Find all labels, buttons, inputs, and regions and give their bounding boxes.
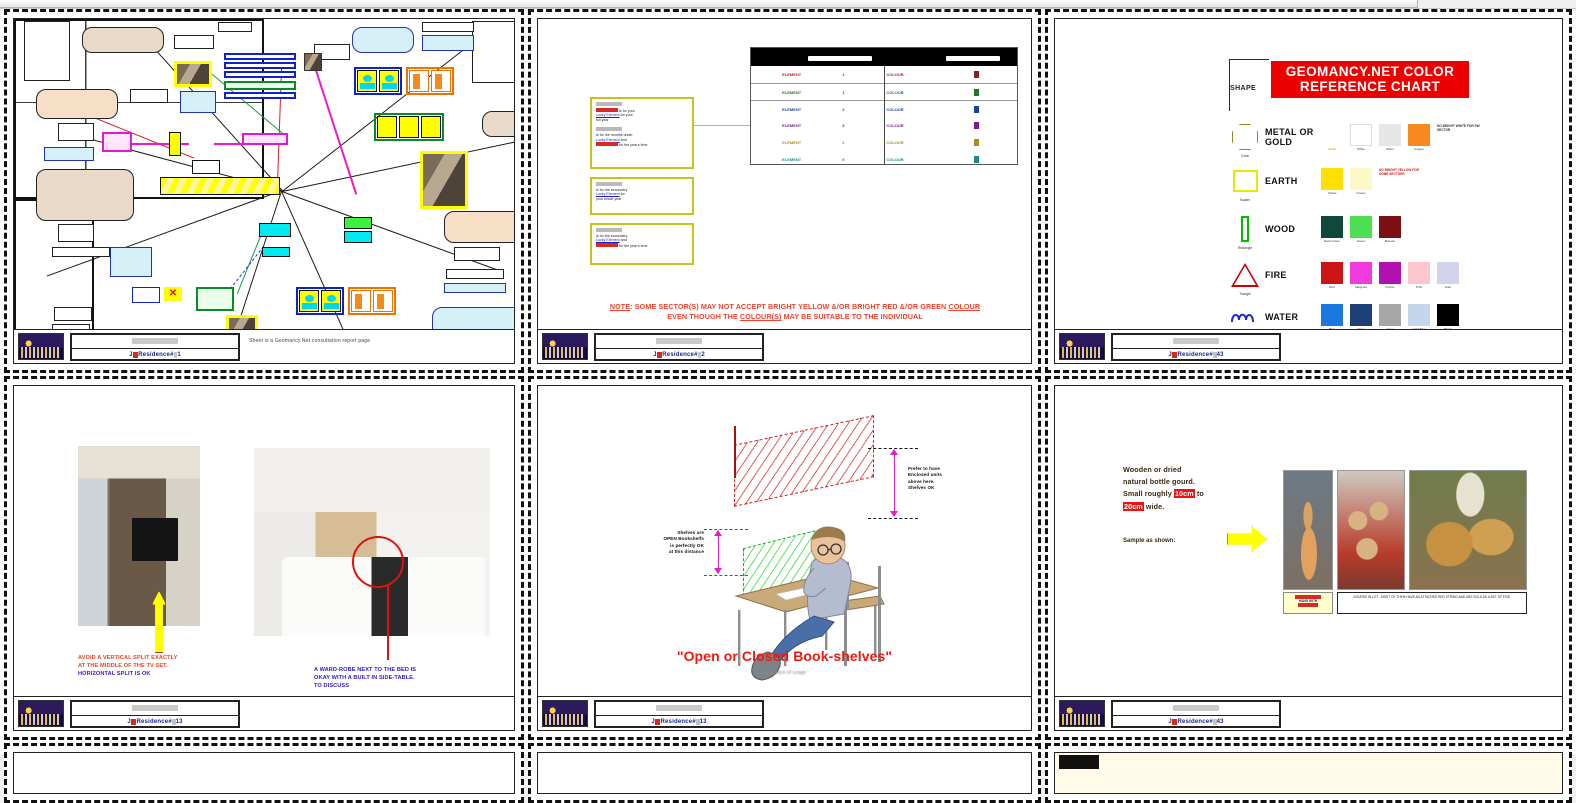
footer-page-label: J Residence# 2 <box>596 348 762 360</box>
tv-caption-line-2: AT THE MIDDLE OF THE TV SET. <box>78 662 258 670</box>
document-page-7-partial[interactable] <box>4 743 524 803</box>
swatch-blue: Blue <box>1321 304 1343 330</box>
document-page-8-partial[interactable] <box>528 743 1041 803</box>
page-5-canvas: Prefer to have Enclosed units above here… <box>538 386 1031 696</box>
footer-page-label: J Residence# 1 <box>72 348 238 360</box>
footer-title-box: CLIENT NAME J Residence# 2 <box>594 333 764 361</box>
magenta-measure-arrow-left <box>714 531 723 573</box>
wardrobe-caption-line-3: TO DISCUSS <box>314 682 504 690</box>
gourd-photo-3 <box>1409 470 1527 590</box>
footer-client-redacted: CLIENT NAME <box>1113 335 1279 347</box>
page-4-canvas: AVOID A VERTICAL SPLIT EXACTLY AT THE MI… <box>14 386 514 696</box>
legend-box-left <box>24 21 70 81</box>
element-note-box-1: is for your Lucky Element for your full … <box>590 97 694 169</box>
swatch-yellow: Yellow <box>1321 168 1343 195</box>
cyan-chip <box>344 217 372 229</box>
callout-box <box>58 123 94 141</box>
triangle-shape-icon: Triangle <box>1225 255 1265 295</box>
swatch-white: White <box>1350 124 1372 151</box>
footer-client-redacted: CLIENT NAME <box>596 335 762 347</box>
element-label-wood: WOOD <box>1265 224 1321 234</box>
wardrobe-caption-line-2: OKAY WITH A BUILT IN SIDE-TABLE. <box>314 674 504 682</box>
callout-box <box>444 211 514 243</box>
element-note-box-2: is for the secondary Lucky Element for y… <box>590 177 694 215</box>
viewer-chrome <box>0 0 1576 9</box>
swatch-group-metal: Gold White Silver <box>1321 124 1481 151</box>
photo-thumbnail <box>420 151 468 209</box>
footer-title-box: CLIENT NAME J Residence# 13 <box>70 700 240 728</box>
geomancy-logo-icon <box>542 700 588 727</box>
page-6-footer: CLIENT NAME J Residence# 43 <box>1055 696 1562 730</box>
page-3-footer: CLIENT NAME J Residence# 43 <box>1055 329 1562 363</box>
icon-row-bottom-orange <box>348 287 396 315</box>
gourd-description: Wooden or dried natural bottle gourd. Sm… <box>1123 464 1303 513</box>
gourd-line-4: 20cm wide. <box>1123 501 1303 513</box>
document-page-3[interactable]: SHAPE GEOMANCY.NET COLOR REFERENCE CHART… <box>1045 9 1572 373</box>
door-icon <box>409 70 429 92</box>
callout-box <box>58 224 94 242</box>
callout-box <box>482 111 514 137</box>
geomancy-logo-icon <box>18 333 64 360</box>
callout-box <box>102 132 132 152</box>
page-5-footer: CLIENT NAME J Residence# 13 <box>538 696 1031 730</box>
gourd-line-1: Wooden or dried <box>1123 464 1303 476</box>
geomancy-logo-icon <box>1059 700 1105 727</box>
horizontal-scrollbar-thumb[interactable] <box>0 0 1418 8</box>
yellow-highlight-banner <box>160 177 280 195</box>
geomancy-logo-icon <box>18 700 64 727</box>
gourd-photo-2 <box>1337 470 1405 590</box>
callout-box <box>44 147 94 161</box>
tv-wall-photo <box>78 446 200 626</box>
chart-row-metal: Circle METAL OR GOLD Gold White <box>1225 117 1481 157</box>
wave-svg <box>1230 308 1260 326</box>
swatch-grey: Grey <box>1379 304 1401 330</box>
callout-box <box>180 91 216 113</box>
swatch-navy: Navy <box>1350 304 1372 330</box>
footer-client-redacted: CLIENT NAME <box>596 702 762 714</box>
callout-box <box>454 247 500 261</box>
blue-banner <box>224 92 296 99</box>
callout-box <box>36 169 134 221</box>
footer-title-box: CLIENT NAME J Residence# 43 <box>1111 700 1281 728</box>
metal-note: NO BRIGHT WHITE FOR SW SECTOR <box>1437 124 1481 132</box>
connector-line <box>282 141 514 192</box>
person-icon <box>357 70 377 92</box>
swatch-copper: Copper <box>1408 124 1430 151</box>
layout-icon <box>421 116 441 138</box>
page-2-footer: CLIENT NAME J Residence# 2 <box>538 329 1031 363</box>
missing-element-swatch <box>936 156 1017 163</box>
swatch-dark-green: Dark Green <box>1321 216 1343 243</box>
note-line-2: EVEN THOUGH THE COLOUR(S) MAY BE SUITABL… <box>556 312 1031 322</box>
page-3-canvas: SHAPE GEOMANCY.NET COLOR REFERENCE CHART… <box>1055 19 1562 329</box>
blue-banner <box>224 53 296 60</box>
gourd-caption-yellow: ATTACHMENT TOHANG WITHRED STRING <box>1283 592 1333 614</box>
callout-box <box>422 22 474 32</box>
geomancy-logo-icon <box>542 333 588 360</box>
wardrobe-caption: A WARD-ROBE NEXT TO THE BED IS OKAY WITH… <box>314 666 504 690</box>
footer-page-label: J Residence# 13 <box>72 715 238 727</box>
element-label-metal: METAL OR GOLD <box>1265 127 1321 147</box>
gourd-line-2: natural bottle gourd. <box>1123 476 1303 488</box>
swatch-light-blue: Light Blue <box>1408 304 1430 330</box>
green-banner <box>224 81 296 90</box>
yellow-right-arrow-icon <box>1227 526 1267 552</box>
sample-label: Sample as shown: <box>1123 538 1175 544</box>
cyan-chip <box>344 231 372 243</box>
callout-box <box>422 35 474 51</box>
wardrobe-caption-line-1: A WARD-ROBE NEXT TO THE BED IS <box>314 666 504 674</box>
callout-box <box>196 287 234 311</box>
footer-page-label: J Residence# 43 <box>1113 715 1279 727</box>
legend-box-right <box>472 21 514 83</box>
chart-row-earth: Square EARTH Yellow Cream <box>1225 161 1423 201</box>
footer-title-box: CLIENT NAME J Residence# 1 <box>70 333 240 361</box>
footer-page-label: J Residence# 43 <box>1113 348 1279 360</box>
callout-box <box>82 27 164 53</box>
footer-note: Sheet is a Geomancy.Net consultation rep… <box>249 338 370 344</box>
callout-box <box>242 133 288 145</box>
swatch-green: Green <box>1350 216 1372 243</box>
footer-client-redacted: CLIENT NAME <box>72 335 238 347</box>
shape-caption: Circle <box>1225 154 1265 158</box>
layout-icon <box>373 290 393 312</box>
page-2-canvas: is for your Lucky Element for your full … <box>538 19 1031 329</box>
swatch-purple: Purple <box>1379 262 1401 289</box>
table-header-compatible-colours <box>751 48 928 66</box>
swatch-magenta: Magenta <box>1350 262 1372 289</box>
page-2-note: NOTE: SOME SECTOR(S) MAY NOT ACCEPT BRIG… <box>556 302 1031 323</box>
footer-client-redacted: CLIENT NAME <box>72 702 238 714</box>
shape-caption: Rectangle <box>1225 246 1265 250</box>
wardrobe-icon <box>377 116 397 138</box>
red-pointer-line <box>387 586 389 660</box>
document-page-1[interactable]: ✳ ✳ <box>4 9 524 373</box>
element-label-fire: FIRE <box>1265 270 1321 280</box>
blue-banner <box>224 71 296 78</box>
cyan-chip <box>262 247 290 257</box>
rectangle-shape-icon: Rectangle <box>1225 209 1265 249</box>
tv-caption-line-3: HORIZONTAL SPLIT IS OK <box>78 670 258 678</box>
swatch-red: Red <box>1321 262 1343 289</box>
shape-caption: Triangle <box>1225 292 1265 296</box>
swatch-group-water: Blue Navy Grey <box>1321 304 1466 330</box>
shape-caption: Square <box>1225 198 1265 202</box>
chart-row-water: Wavy WATER Blue Navy <box>1225 297 1466 329</box>
yellow-chip <box>192 160 220 174</box>
icon-row-top-blue <box>354 67 402 95</box>
callout-box <box>444 283 506 293</box>
icon-row-top-orange <box>406 67 454 95</box>
swatch-gold: Gold <box>1321 124 1343 151</box>
door-icon <box>351 290 371 312</box>
gourd-line-3: Small roughly 10cm to <box>1123 488 1303 500</box>
enclosed-unit-zone <box>734 415 874 507</box>
enclosed-unit-spine <box>734 426 736 478</box>
tv-caption: AVOID A VERTICAL SPLIT EXACTLY AT THE MI… <box>78 654 258 678</box>
blue-banner <box>224 62 296 69</box>
chart-title: GEOMANCY.NET COLOR REFERENCE CHART <box>1271 61 1469 98</box>
callout-box <box>174 35 214 49</box>
element-note-box-3: is for the secondary Lucky Element and f… <box>590 223 694 265</box>
chart-title-line-1: GEOMANCY.NET COLOR <box>1277 64 1463 79</box>
missing-element-swatch <box>936 122 1017 129</box>
missing-element-swatch <box>936 106 1017 113</box>
connector-line-magenta <box>312 61 357 195</box>
document-page-grid[interactable]: ✳ ✳ <box>0 9 1576 754</box>
annot-left-line-4: at this distance <box>630 549 704 555</box>
callout-box <box>446 269 504 279</box>
cyan-chip <box>259 223 291 237</box>
enclosed-units-annotation: Prefer to have Enclosed units above here… <box>908 466 968 492</box>
annot-right-line-4: Shelves OK <box>908 485 968 491</box>
callout-box <box>130 89 168 103</box>
swatch-group-earth: Yellow Cream NO BRIGHT YELLOW FOR SOME S… <box>1321 168 1423 195</box>
yellow-chip <box>169 132 181 156</box>
swatch-silver: Silver <box>1379 124 1401 151</box>
icon-row-green <box>374 113 444 141</box>
table-header-missing-element <box>928 48 1017 66</box>
wave-shape-icon: Wavy <box>1225 297 1265 329</box>
swatch-pink: Pink <box>1408 262 1430 289</box>
callout-box <box>218 22 252 32</box>
gourd-caption-white: GOURDS IN LOT - MOST OF THEM HAVE AN ATT… <box>1337 592 1527 614</box>
blue-chip-pair <box>132 287 160 303</box>
gourd-photo-1 <box>1283 470 1333 590</box>
swatch-black: Black <box>1437 304 1459 330</box>
document-page-6[interactable]: Wooden or dried natural bottle gourd. Sm… <box>1045 376 1572 740</box>
earth-note: NO BRIGHT YELLOW FOR SOME SECTORS <box>1379 168 1423 176</box>
element-colour-table: ELEMENT 1 COLOUR ELEMENT 1 COLOUR ELEMEN… <box>750 47 1018 165</box>
missing-element-swatch <box>936 139 1017 146</box>
photo-thumbnail <box>226 315 258 329</box>
callout-box <box>52 247 110 257</box>
chart-row-wood: Rectangle WOOD Dark Green Green <box>1225 209 1408 249</box>
element-label-water: WATER <box>1265 312 1321 322</box>
document-page-2[interactable]: is for your Lucky Element for your full … <box>528 9 1041 373</box>
footer-title-box: CLIENT NAME J Residence# 13 <box>594 700 764 728</box>
red-highlight-circle <box>352 536 404 588</box>
callout-box <box>110 247 152 277</box>
person-icon <box>299 290 319 312</box>
swatch-group-fire: Red Magenta Purple <box>1321 262 1466 289</box>
desk-icon <box>379 70 399 92</box>
page-1-canvas: ✳ ✳ <box>14 19 514 329</box>
page-4-footer: CLIENT NAME J Residence# 13 <box>14 696 514 730</box>
table-header-row <box>751 48 1017 66</box>
document-page-4[interactable]: AVOID A VERTICAL SPLIT EXACTLY AT THE MI… <box>4 376 524 740</box>
photo-thumbnail <box>174 61 212 87</box>
tv-caption-line-1: AVOID A VERTICAL SPLIT EXACTLY <box>78 654 258 662</box>
page-5-subtitle: Illustration of usage <box>538 670 1031 676</box>
note-line-1: NOTE: SOME SECTOR(S) MAY NOT ACCEPT BRIG… <box>556 302 1031 312</box>
open-bookshelf-annotation: Shelves are OPEN Bookshelfs is perfectly… <box>630 530 704 556</box>
page-5-title: "Open or Closed Book-shelves" <box>538 648 1031 664</box>
red-x-marker: ✕ <box>164 287 182 301</box>
octagon-shape-icon: Circle <box>1225 117 1265 157</box>
shape-column-label: SHAPE <box>1230 85 1256 92</box>
callout-box <box>352 27 414 53</box>
page-1-footer: CLIENT NAME J Residence# 1 Sheet is a Ge… <box>14 329 514 363</box>
chart-title-line-2: REFERENCE CHART <box>1277 79 1463 94</box>
swatch-lilac: Lilac <box>1437 262 1459 289</box>
icon-row-bottom-blue <box>296 287 344 315</box>
chart-row-fire: Triangle FIRE Red Magenta <box>1225 255 1466 295</box>
document-page-9-partial[interactable] <box>1045 743 1572 803</box>
element-label-earth: EARTH <box>1265 176 1321 186</box>
document-page-5[interactable]: Prefer to have Enclosed units above here… <box>528 376 1041 740</box>
callout-box <box>54 307 92 321</box>
geomancy-logo-icon <box>1059 333 1105 360</box>
footer-title-box: CLIENT NAME J Residence# 43 <box>1111 333 1281 361</box>
swatch-maroon: Maroon <box>1379 216 1401 243</box>
square-shape-icon: Square <box>1225 161 1265 201</box>
missing-element-swatch <box>936 89 1017 96</box>
callout-box <box>432 307 514 329</box>
bed-icon <box>399 116 419 138</box>
callout-box <box>36 89 118 119</box>
layout-icon <box>431 70 451 92</box>
horizontal-scrollbar-track[interactable] <box>0 0 1576 9</box>
swatch-cream: Cream <box>1350 168 1372 195</box>
missing-element-swatch <box>936 71 1017 78</box>
footer-page-label: J Residence# 13 <box>596 715 762 727</box>
desk-icon <box>321 290 341 312</box>
photo-thumbnail <box>304 53 322 71</box>
swatch-group-wood: Dark Green Green Maroon <box>1321 216 1408 243</box>
page-6-canvas: Wooden or dried natural bottle gourd. Sm… <box>1055 386 1562 696</box>
footer-client-redacted: CLIENT NAME <box>1113 702 1279 714</box>
